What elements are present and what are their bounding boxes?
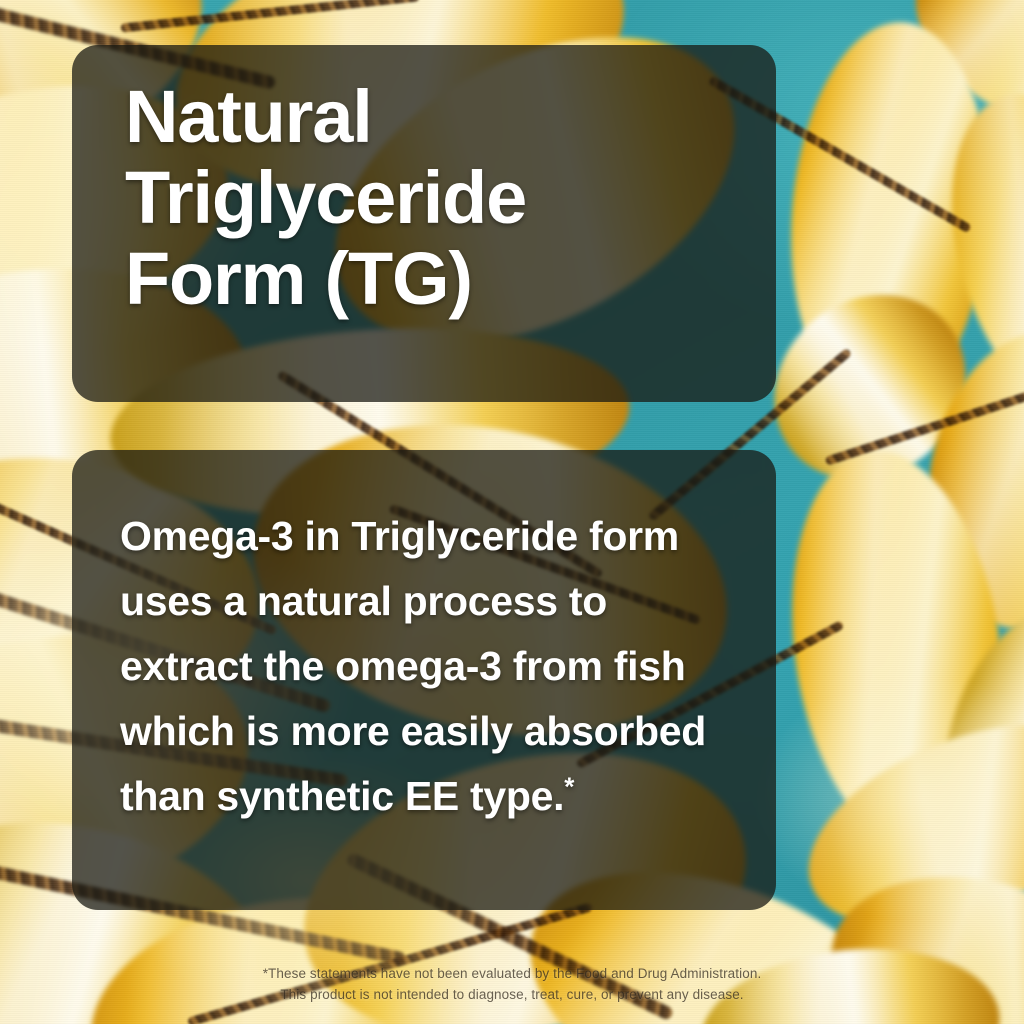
disclaimer-line-2: This product is not intended to diagnose… bbox=[0, 984, 1024, 1005]
marketing-graphic: Natural Triglyceride Form (TG) Omega-3 i… bbox=[0, 0, 1024, 1024]
footnote-marker: * bbox=[564, 771, 574, 801]
page-title: Natural Triglyceride Form (TG) bbox=[125, 76, 765, 319]
body-paragraph: Omega-3 in Triglyceride form uses a natu… bbox=[120, 504, 740, 829]
disclaimer-line-1: *These statements have not been evaluate… bbox=[0, 963, 1024, 984]
fda-disclaimer: *These statements have not been evaluate… bbox=[0, 963, 1024, 1005]
body-paragraph-text: Omega-3 in Triglyceride form uses a natu… bbox=[120, 513, 706, 819]
